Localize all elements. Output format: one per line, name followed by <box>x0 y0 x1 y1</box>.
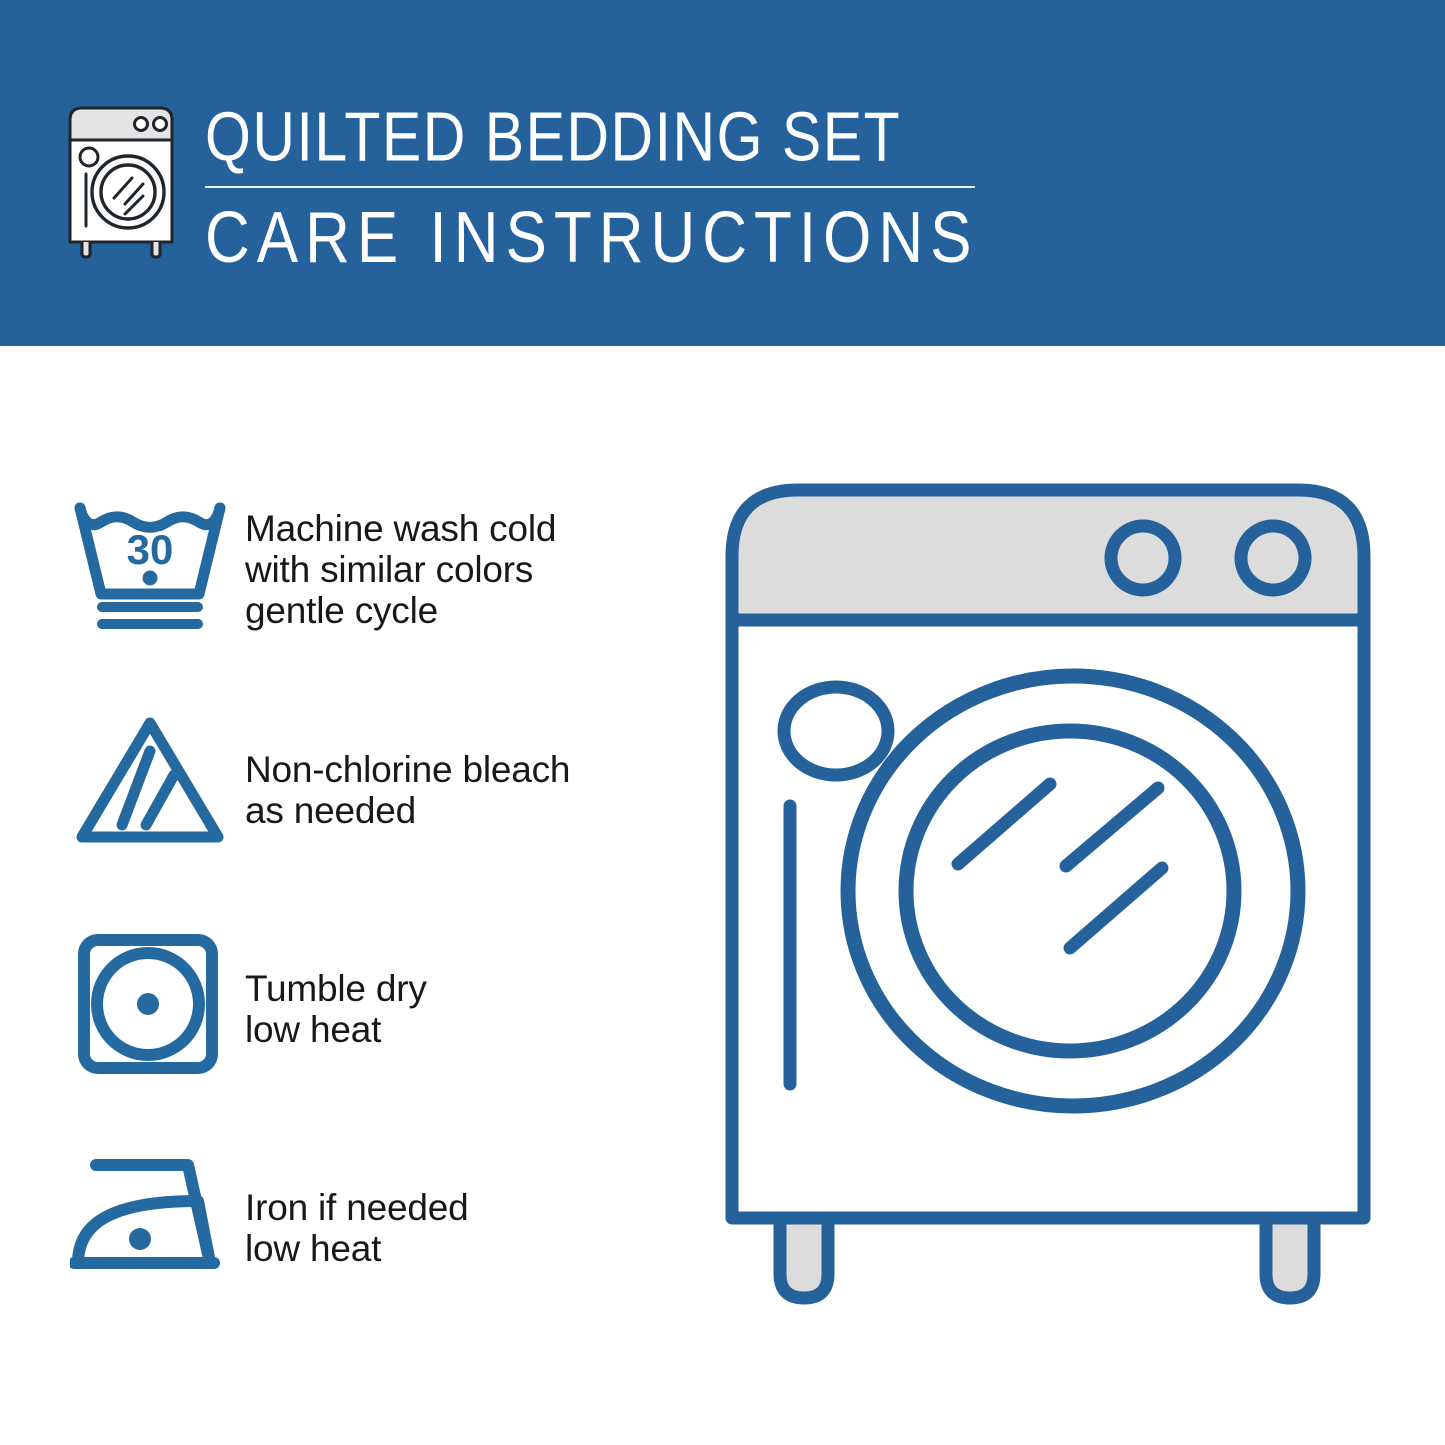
washing-machine-illustration <box>718 476 1378 1361</box>
washer-knob-left <box>1111 526 1175 590</box>
care-instruction-text: Machine wash cold with similar colors ge… <box>245 494 690 631</box>
tumble-dry-icon <box>70 932 245 1077</box>
washer-foot-right <box>1266 1218 1314 1298</box>
triangle-bleach-icon <box>70 713 245 848</box>
header-inner: QUILTED BEDDING SET CARE INSTRUCTIONS <box>0 0 1445 346</box>
title-divider <box>205 186 975 188</box>
care-row: Tumble dry low heat <box>70 932 690 1077</box>
care-instruction-text: Tumble dry low heat <box>245 932 690 1050</box>
wash-temperature-label: 30 <box>127 526 174 573</box>
care-row: Iron if needed low heat <box>70 1151 690 1281</box>
washer-foot-left <box>780 1218 828 1298</box>
washer-dispenser <box>784 687 888 775</box>
care-row: 30 Machine wash cold with similar colors… <box>70 494 690 639</box>
care-instructions-page: QUILTED BEDDING SET CARE INSTRUCTIONS 30 <box>0 0 1445 1445</box>
body-area: 30 Machine wash cold with similar colors… <box>0 346 1445 1445</box>
iron-icon <box>70 1151 245 1281</box>
header-band: QUILTED BEDDING SET CARE INSTRUCTIONS <box>0 0 1445 346</box>
header-text-block: QUILTED BEDDING SET CARE INSTRUCTIONS <box>205 98 995 269</box>
washing-machine-icon <box>62 100 180 265</box>
page-title: QUILTED BEDDING SET <box>205 98 995 176</box>
care-instruction-text: Iron if needed low heat <box>245 1151 690 1269</box>
care-instruction-text: Non-chlorine bleach as needed <box>245 713 690 831</box>
wash-tub-30-icon: 30 <box>70 494 245 639</box>
care-row: Non-chlorine bleach as needed <box>70 713 690 848</box>
washer-knob-right <box>1241 526 1305 590</box>
page-subtitle: CARE INSTRUCTIONS <box>205 197 995 281</box>
